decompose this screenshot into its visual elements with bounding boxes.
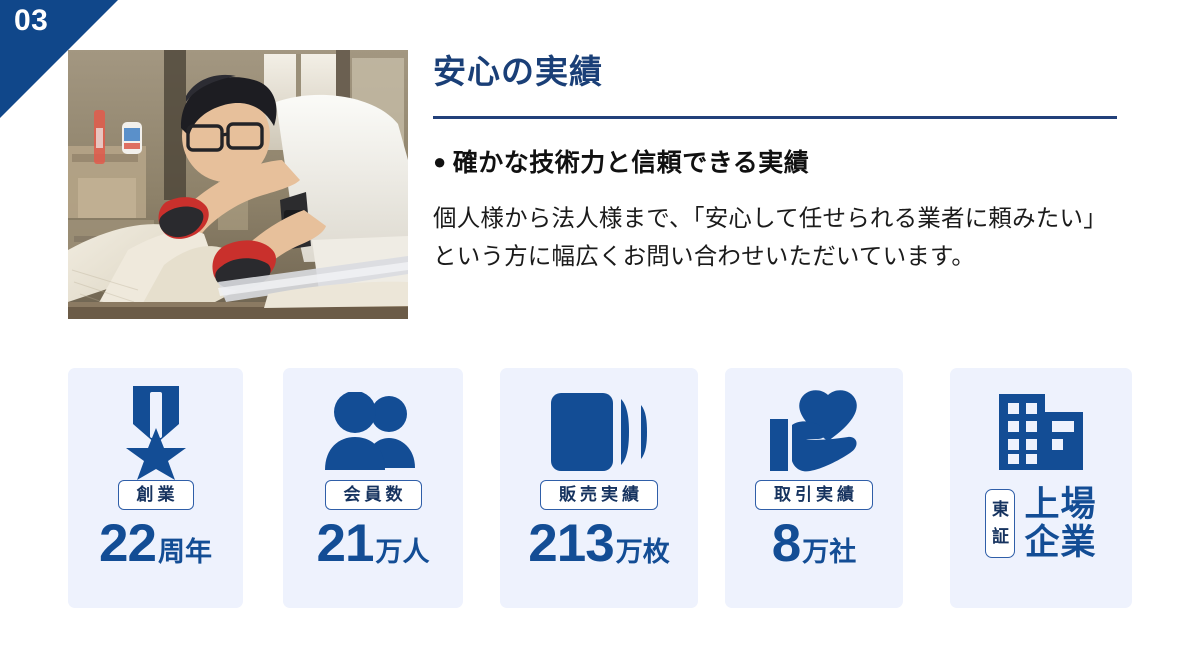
hand-heart-icon <box>766 384 862 480</box>
stat-label-transactions: 取引実績 <box>755 480 873 510</box>
medal-icon <box>119 384 193 480</box>
slide-root: 03 <box>0 0 1200 667</box>
stat-value-members: 21 万人 <box>317 517 430 570</box>
stat-number-founded: 22 <box>99 517 156 570</box>
stat-value-transactions: 8 万社 <box>772 517 856 570</box>
sheets-icon <box>547 384 651 480</box>
stat-label-members: 会員数 <box>325 480 422 510</box>
subheading: ●確かな技術力と信頼できる実績 <box>433 147 1117 180</box>
listed-line-2: 企業 <box>1024 524 1096 562</box>
stat-label-sales: 販売実績 <box>540 480 658 510</box>
page-title: 安心の実績 <box>433 52 1117 92</box>
worker-photo <box>68 50 408 319</box>
people-icon <box>321 384 425 480</box>
corner-badge-number: 03 <box>14 6 48 36</box>
building-icon <box>995 384 1087 480</box>
stat-label-founded: 創業 <box>118 480 194 510</box>
listed-company-text: 上場 企業 <box>1024 486 1096 562</box>
listed-line-1: 上場 <box>1024 486 1096 524</box>
stat-number-sales: 213 <box>528 517 613 570</box>
title-divider <box>433 116 1117 119</box>
tse-char-1: 東 <box>990 497 1010 523</box>
stat-number-transactions: 8 <box>772 517 800 570</box>
stat-unit-sales: 万枚 <box>616 539 670 566</box>
stat-unit-members: 万人 <box>375 539 429 566</box>
body-paragraph: 個人様から法人様まで、「安心して任せられる業者に頼みたい」という方に幅広くお問い… <box>433 199 1117 275</box>
stat-card-sales: 販売実績 213 万枚 <box>500 368 698 608</box>
stats-card-row: 創業 22 周年 会員数 21 万人 <box>68 368 1132 608</box>
stat-unit-founded: 周年 <box>158 539 212 566</box>
tse-badge: 東 証 <box>985 489 1015 558</box>
subheading-text: 確かな技術力と信頼できる実績 <box>453 149 810 177</box>
stat-value-founded: 22 周年 <box>99 517 212 570</box>
stat-card-members: 会員数 21 万人 <box>283 368 463 608</box>
worker-photo-illustration <box>68 50 408 319</box>
tse-char-2: 証 <box>990 524 1010 550</box>
stat-card-founded: 創業 22 周年 <box>68 368 243 608</box>
listed-company-block: 東 証 上場 企業 <box>985 486 1096 562</box>
content-column: 安心の実績 ●確かな技術力と信頼できる実績 個人様から法人様まで、「安心して任せ… <box>433 52 1117 275</box>
bullet-icon: ● <box>433 148 447 177</box>
stat-card-listed-company: 東 証 上場 企業 <box>950 368 1132 608</box>
stat-number-members: 21 <box>317 517 374 570</box>
stat-card-transactions: 取引実績 8 万社 <box>725 368 903 608</box>
stat-unit-transactions: 万社 <box>802 539 856 566</box>
stat-value-sales: 213 万枚 <box>528 517 669 570</box>
